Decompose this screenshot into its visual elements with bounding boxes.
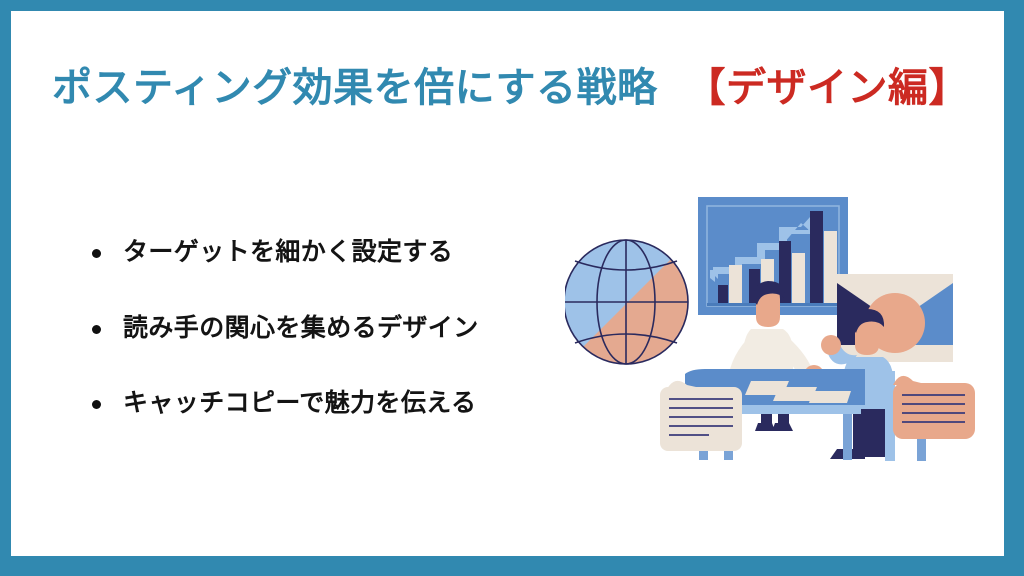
- business-meeting-analytics-illustration: [565, 175, 985, 480]
- bullet-item-label: ターゲットを細かく設定する: [123, 236, 453, 269]
- frame-border-right: [1004, 0, 1024, 576]
- bullet-item-label: 読み手の関心を集めるデザイン: [123, 312, 479, 345]
- slide-title: ポスティング効果を倍にする戦略【デザイン編】: [52, 64, 952, 112]
- title-main-text: ポスティング効果を倍にする戦略: [52, 66, 658, 110]
- furniture-legs-front: [917, 439, 926, 461]
- frame-border-left: [0, 0, 11, 576]
- list-item: キャッチコピーで魅力を伝える: [92, 387, 562, 420]
- list-item: ターゲットを細かく設定する: [92, 236, 562, 269]
- frame-border-bottom: [0, 556, 1024, 576]
- bullet-list: ターゲットを細かく設定する 読み手の関心を集めるデザイン キャッチコピーで魅力を…: [92, 236, 562, 420]
- speech-bubble-right: [893, 376, 975, 439]
- bullet-dot-icon: [92, 325, 101, 334]
- speech-bubble-left: [660, 376, 742, 451]
- list-item: 読み手の関心を集めるデザイン: [92, 312, 562, 345]
- bullet-dot-icon: [92, 400, 101, 409]
- frame-border-top: [0, 0, 1024, 11]
- bullet-dot-icon: [92, 249, 101, 258]
- title-accent-text: 【デザイン編】: [686, 66, 970, 110]
- bullet-item-label: キャッチコピーで魅力を伝える: [123, 387, 476, 420]
- slide-canvas: ポスティング効果を倍にする戦略【デザイン編】 ターゲットを細かく設定する 読み手…: [0, 0, 1024, 576]
- globe-icon: [565, 235, 700, 385]
